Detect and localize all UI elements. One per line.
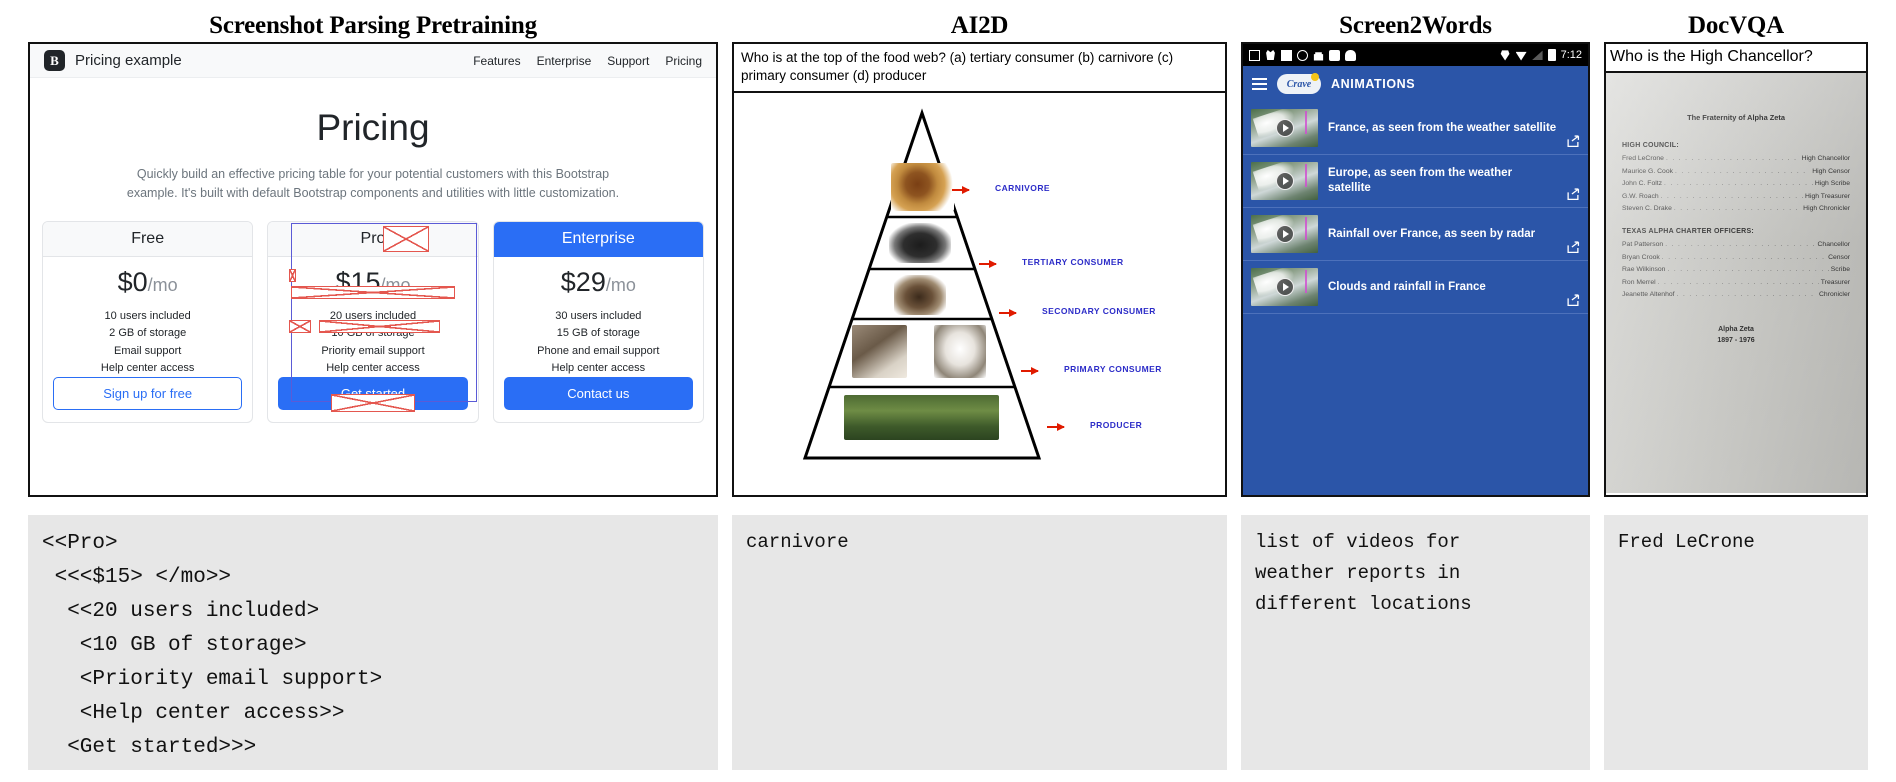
video-thumbnail[interactable] — [1251, 268, 1318, 306]
leader-dots: . . . . . . . . . . . . . . . . . . . . … — [1661, 193, 1803, 200]
feature-item: 30 users included — [504, 308, 693, 325]
mask-box-cta-label — [331, 394, 415, 412]
plan-price-enterprise: $29/mo — [504, 269, 693, 296]
nav-link-pricing[interactable]: Pricing — [665, 54, 702, 68]
share-icon[interactable] — [1566, 294, 1580, 307]
roster-row: John C. Foltz . . . . . . . . . . . . . … — [1622, 180, 1850, 187]
output-docvqa-answer: Fred LeCrone — [1604, 515, 1868, 770]
location-icon — [1500, 50, 1511, 61]
bootstrap-logo-icon: B — [44, 50, 65, 71]
feature-item: 2 GB of storage — [53, 325, 242, 342]
weather-crave-logo-icon: Crave — [1277, 74, 1321, 94]
roster-role: High Censor — [1812, 168, 1850, 175]
page-subtitle: Quickly build an effective pricing table… — [113, 165, 633, 204]
roster-row: G.W. Roach . . . . . . . . . . . . . . .… — [1622, 193, 1850, 200]
food-pyramid-diagram: CARNIVORE TERTIARY CONSUMER SECONDARY CO… — [734, 93, 1225, 481]
plan-price-free: $0/mo — [53, 269, 242, 296]
document-footer: Alpha Zeta 1897 - 1976 — [1622, 324, 1850, 346]
arrow-primary-icon — [1021, 370, 1038, 372]
pricing-card-free: Free $0/mo 10 users included 2 GB of sto… — [42, 221, 253, 422]
roster-name: Maurice G. Cook — [1622, 168, 1673, 175]
battery-icon — [1548, 49, 1556, 61]
organism-mouse-icon — [852, 325, 907, 378]
label-producer: PRODUCER — [1090, 420, 1142, 430]
share-icon[interactable] — [1566, 135, 1580, 148]
roster-role: Censor — [1828, 254, 1850, 261]
play-icon[interactable] — [1276, 225, 1294, 243]
android-status-bar: 7:12 — [1243, 44, 1588, 66]
play-icon[interactable] — [1276, 119, 1294, 137]
clock-icon — [1297, 50, 1308, 61]
price-amount: $29 — [561, 267, 606, 297]
label-secondary-consumer: SECONDARY CONSUMER — [1042, 306, 1156, 316]
roster-row: Steven C. Drake . . . . . . . . . . . . … — [1622, 205, 1850, 212]
video-thumbnail[interactable] — [1251, 109, 1318, 147]
roster-name: Fred LeCrone — [1622, 155, 1664, 162]
signup-free-button[interactable]: Sign up for free — [53, 377, 242, 410]
mask-box-price-period — [383, 226, 429, 252]
footer-org-name: Alpha Zeta — [1622, 324, 1850, 335]
mask-box-feature-digit — [289, 269, 296, 282]
ai2d-panel: Who is at the top of the food web? (a) t… — [732, 42, 1227, 497]
column-title-pricing: Screenshot Parsing Pretraining — [28, 12, 718, 40]
share-icon[interactable] — [1566, 241, 1580, 254]
feature-item: Priority email support — [278, 343, 467, 360]
roster-name: Bryan Crook — [1622, 254, 1660, 261]
roster-row: Fred LeCrone . . . . . . . . . . . . . .… — [1622, 155, 1850, 162]
roster-role: Scribe — [1831, 266, 1850, 273]
organism-rodent-icon — [894, 275, 946, 315]
roster-role: High Chronicler — [1803, 205, 1850, 212]
feature-item: Phone and email support — [504, 343, 693, 360]
roster-role: Treasurer — [1821, 279, 1850, 286]
roster-role: Chronicler — [1819, 291, 1850, 298]
roster-role: High Chancellor — [1802, 155, 1850, 162]
status-left-icons — [1249, 50, 1356, 61]
wifi-icon — [1516, 50, 1527, 61]
list-item[interactable]: France, as seen from the weather satelli… — [1243, 102, 1588, 155]
signal-icon — [1532, 50, 1543, 61]
lock-icon — [1313, 50, 1324, 61]
mask-icon — [1265, 50, 1276, 61]
price-period: /mo — [148, 275, 178, 295]
organism-rabbit-icon — [934, 325, 986, 378]
android-icon — [1345, 50, 1356, 61]
video-title[interactable]: Rainfall over France, as seen by radar — [1328, 227, 1580, 242]
roster-row: Rae Wilkinson . . . . . . . . . . . . . … — [1622, 266, 1850, 273]
navbar: B Pricing example Features Enterprise Su… — [30, 44, 716, 78]
leader-dots: . . . . . . . . . . . . . . . . . . . . … — [1667, 266, 1828, 273]
status-right-icons: 7:12 — [1500, 49, 1582, 61]
column-title-screen2words: Screen2Words — [1241, 12, 1590, 40]
nav-link-enterprise[interactable]: Enterprise — [537, 54, 592, 68]
organism-eagle-icon — [889, 223, 951, 263]
pricing-cards: Free $0/mo 10 users included 2 GB of sto… — [30, 207, 716, 422]
roster-role: Chancellor — [1818, 241, 1851, 248]
feature-item: Help center access — [278, 360, 467, 377]
roster-row: Maurice G. Cook . . . . . . . . . . . . … — [1622, 168, 1850, 175]
logo-dot-icon — [1311, 73, 1319, 81]
docvqa-panel: Who is the High Chancellor? The Fraterni… — [1604, 42, 1868, 497]
scanned-document: The Fraternity of Alpha Zeta HIGH COUNCI… — [1606, 73, 1866, 493]
video-list[interactable]: France, as seen from the weather satelli… — [1243, 102, 1588, 495]
output-screen2words-caption: list of videos for weather reports in di… — [1241, 515, 1590, 770]
pricing-card-enterprise: Enterprise $29/mo 30 users included 15 G… — [493, 221, 704, 422]
screen2words-panel: 7:12 Crave ANIMATIONS France, as seen fr… — [1241, 42, 1590, 497]
feature-item: Email support — [53, 343, 242, 360]
navbar-brand[interactable]: Pricing example — [75, 52, 182, 69]
mask-box-feature-help-a — [289, 320, 311, 333]
label-primary-consumer: PRIMARY CONSUMER — [1064, 364, 1162, 374]
arrow-tertiary-icon — [979, 263, 996, 265]
feature-item: Help center access — [53, 360, 242, 377]
roster-name: Ron Merrel — [1622, 279, 1656, 286]
roster-name: Jeanette Altenhof — [1622, 291, 1675, 298]
roster-name: Pat Patterson — [1622, 241, 1663, 248]
roster-row: Pat Patterson . . . . . . . . . . . . . … — [1622, 241, 1850, 248]
play-icon[interactable] — [1276, 172, 1294, 190]
ai2d-question: Who is at the top of the food web? (a) t… — [734, 44, 1225, 93]
leader-dots: . . . . . . . . . . . . . . . . . . . . … — [1675, 168, 1810, 175]
footer-years: 1897 - 1976 — [1622, 335, 1850, 346]
video-title[interactable]: France, as seen from the weather satelli… — [1328, 121, 1580, 136]
status-bar-time: 7:12 — [1561, 49, 1582, 61]
roster-row: Bryan Crook . . . . . . . . . . . . . . … — [1622, 254, 1850, 261]
play-icon[interactable] — [1276, 278, 1294, 296]
arrow-producer-icon — [1047, 426, 1064, 428]
list-item[interactable]: Europe, as seen from the weather satelli… — [1243, 155, 1588, 208]
label-tertiary-consumer: TERTIARY CONSUMER — [1022, 257, 1124, 267]
roster-role: High Treasurer — [1805, 193, 1850, 200]
column-title-docvqa: DocVQA — [1604, 12, 1868, 40]
leader-dots: . . . . . . . . . . . . . . . . . . . . … — [1665, 241, 1815, 248]
output-pricing-parse: <<Pro> <<<$15> </mo>> <<20 users include… — [28, 515, 718, 770]
app-bar-title: ANIMATIONS — [1331, 77, 1415, 91]
pricing-hero: Pricing Quickly build an effective prici… — [30, 78, 716, 207]
roster-row: Ron Merrel . . . . . . . . . . . . . . .… — [1622, 279, 1850, 286]
price-amount: $0 — [118, 267, 148, 297]
leader-dots: . . . . . . . . . . . . . . . . . . . . … — [1677, 291, 1817, 298]
plan-name-enterprise: Enterprise — [494, 222, 703, 257]
pricing-screenshot-panel: B Pricing example Features Enterprise Su… — [28, 42, 718, 497]
clipboard-icon — [1329, 50, 1340, 61]
facebook-icon — [1281, 50, 1292, 61]
video-title[interactable]: Europe, as seen from the weather satelli… — [1328, 166, 1580, 196]
list-item[interactable]: Rainfall over France, as seen by radar — [1243, 208, 1588, 261]
pricing-card-pro: Pro $15/mo 20 users included 10 GB of st… — [267, 221, 478, 422]
section-heading-high-council: HIGH COUNCIL: — [1622, 142, 1850, 149]
leader-dots: . . . . . . . . . . . . . . . . . . . . … — [1658, 279, 1819, 286]
sim-icon — [1249, 50, 1260, 61]
document-title: The Fraternity of Alpha Zeta — [1622, 113, 1850, 122]
plan-name-free: Free — [43, 222, 252, 257]
navbar-links: Features Enterprise Support Pricing — [473, 54, 702, 68]
video-thumbnail[interactable] — [1251, 162, 1318, 200]
output-ai2d-answer: carnivore — [732, 515, 1227, 770]
video-title[interactable]: Clouds and rainfall in France — [1328, 280, 1580, 295]
roster-name: G.W. Roach — [1622, 193, 1659, 200]
roster-row: Jeanette Altenhof . . . . . . . . . . . … — [1622, 291, 1850, 298]
roster-name: Rae Wilkinson — [1622, 266, 1665, 273]
leader-dots: . . . . . . . . . . . . . . . . . . . . … — [1664, 180, 1813, 187]
page-title: Pricing — [30, 108, 716, 149]
nav-link-features[interactable]: Features — [473, 54, 520, 68]
roster-role: High Scribe — [1815, 180, 1850, 187]
video-thumbnail[interactable] — [1251, 215, 1318, 253]
roster-name: John C. Foltz — [1622, 180, 1662, 187]
feature-item: 10 users included — [53, 308, 242, 325]
price-period: /mo — [606, 275, 636, 295]
arrow-carnivore-icon — [952, 189, 969, 191]
feature-item: 15 GB of storage — [504, 325, 693, 342]
list-item[interactable]: Clouds and rainfall in France — [1243, 261, 1588, 314]
organism-grass-icon — [844, 395, 999, 440]
logo-text: Crave — [1287, 79, 1311, 90]
roster-name: Steven C. Drake — [1622, 205, 1672, 212]
figure-root: Screenshot Parsing Pretraining AI2D Scre… — [0, 0, 1896, 782]
arrow-secondary-icon — [999, 312, 1016, 314]
leader-dots: . . . . . . . . . . . . . . . . . . . . … — [1674, 205, 1801, 212]
share-icon[interactable] — [1566, 188, 1580, 201]
feature-item: Help center access — [504, 360, 693, 377]
nav-link-support[interactable]: Support — [607, 54, 649, 68]
mask-box-feature-help-b — [319, 320, 440, 333]
organism-lion-icon — [891, 163, 954, 211]
bootstrap-logo-letter: B — [50, 53, 59, 69]
contact-us-button[interactable]: Contact us — [504, 377, 693, 410]
label-carnivore: CARNIVORE — [995, 183, 1050, 193]
column-title-ai2d: AI2D — [732, 12, 1227, 40]
leader-dots: . . . . . . . . . . . . . . . . . . . . … — [1662, 254, 1826, 261]
section-heading-texas-alpha: TEXAS ALPHA CHARTER OFFICERS: — [1622, 228, 1850, 235]
app-bar: Crave ANIMATIONS — [1243, 66, 1588, 102]
leader-dots: . . . . . . . . . . . . . . . . . . . . … — [1666, 155, 1800, 162]
docvqa-question: Who is the High Chancellor? — [1606, 44, 1866, 73]
hamburger-icon[interactable] — [1252, 78, 1267, 91]
mask-box-feature-storage — [291, 286, 454, 299]
plan-name-pro: Pro — [268, 222, 477, 257]
